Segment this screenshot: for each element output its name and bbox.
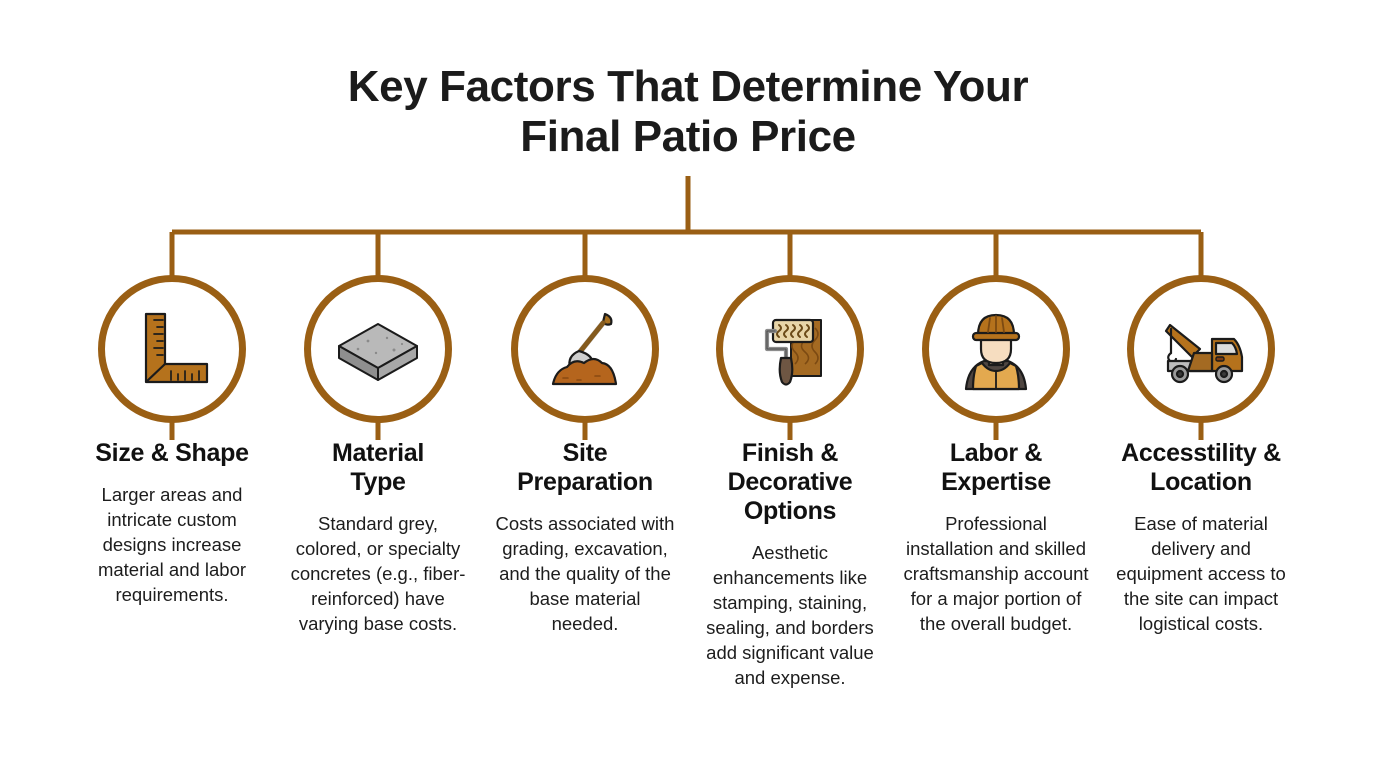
node-description: Larger areas and intricate custom design… (79, 482, 265, 607)
node-site-preparation[interactable]: Site Preparation Costs associated with g… (480, 275, 690, 636)
node-description: Costs associated with grading, excavatio… (491, 511, 679, 636)
concrete-paver-slab-icon (332, 308, 424, 390)
node-labor-expertise[interactable]: Labor & Expertise Professional installat… (891, 275, 1101, 636)
paint-roller-icon (745, 304, 835, 394)
node-title: Site Preparation (498, 439, 673, 497)
node-title: Labor & Expertise (926, 439, 1066, 497)
node-icon-circle (511, 275, 659, 423)
shovel-dirt-mound-icon (539, 306, 631, 392)
node-icon-circle (98, 275, 246, 423)
node-title: Size & Shape (69, 439, 275, 468)
node-list: Size & Shape Larger areas and intricate … (0, 0, 1376, 768)
node-description: Aesthetic enhancements like stamping, st… (700, 540, 880, 690)
node-material-type[interactable]: Material Type Standard grey, colored, or… (273, 275, 483, 636)
carpenter-square-ruler-icon (129, 306, 215, 392)
node-description: Standard grey, colored, or specialty con… (283, 511, 473, 636)
node-icon-circle (304, 275, 452, 423)
tow-truck-icon (1154, 309, 1248, 389)
node-icon-circle (1127, 275, 1275, 423)
node-description: Ease of material delivery and equipment … (1104, 511, 1298, 636)
construction-worker-icon (952, 305, 1040, 393)
node-description: Professional installation and skilled cr… (899, 511, 1093, 636)
node-finish-decorative-options[interactable]: Finish & Decorative Options Aesthetic en… (685, 275, 895, 690)
node-icon-circle (922, 275, 1070, 423)
node-icon-circle (716, 275, 864, 423)
node-title: Accesstility & Location (1106, 439, 1296, 497)
node-title: Finish & Decorative Options (715, 439, 865, 526)
node-size-shape[interactable]: Size & Shape Larger areas and intricate … (67, 275, 277, 607)
infographic-canvas: Key Factors That Determine Your Final Pa… (0, 0, 1376, 768)
node-title: Material Type (313, 439, 443, 497)
node-accessibility-location[interactable]: Accesstility & Location Ease of material… (1096, 275, 1306, 636)
